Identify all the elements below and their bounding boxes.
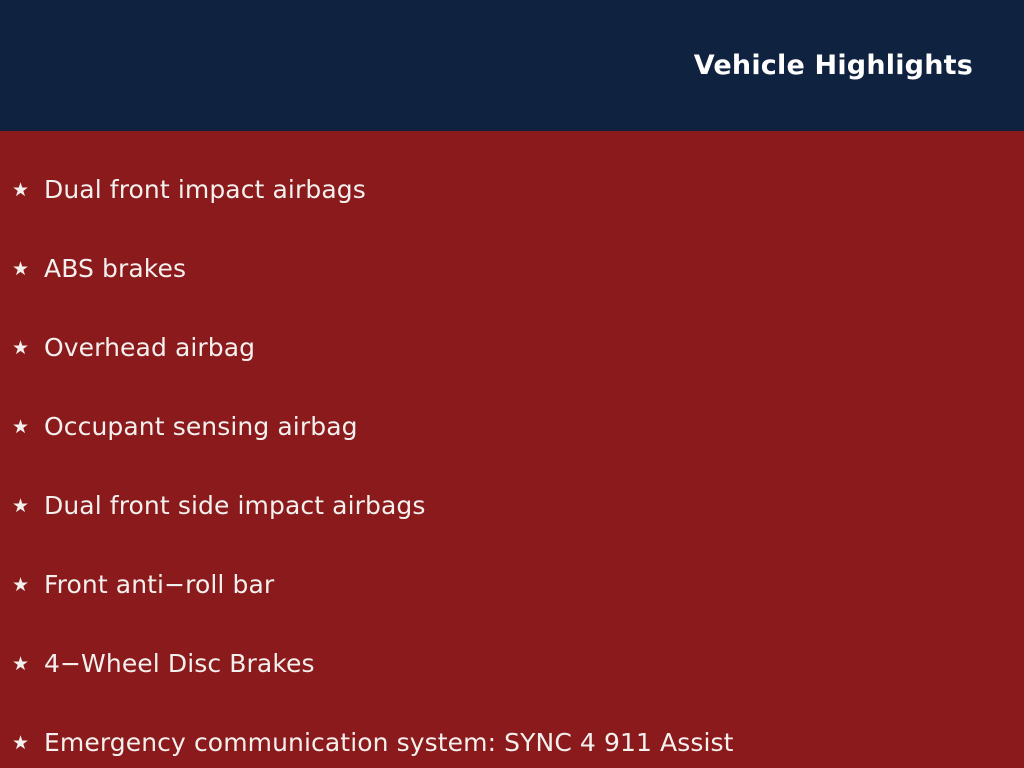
list-item: ★ Dual front side impact airbags xyxy=(0,467,1024,546)
page-title: Vehicle Highlights xyxy=(694,51,973,81)
features-panel: ★ Dual front impact airbags ★ ABS brakes… xyxy=(0,131,1024,768)
star-icon: ★ xyxy=(12,655,34,674)
feature-label: Dual front side impact airbags xyxy=(44,492,426,521)
star-icon: ★ xyxy=(12,734,34,753)
star-icon: ★ xyxy=(12,497,34,516)
list-item: ★ ABS brakes xyxy=(0,230,1024,309)
star-icon: ★ xyxy=(12,339,34,358)
header-band: Vehicle Highlights xyxy=(0,0,1024,131)
feature-label: ABS brakes xyxy=(44,255,186,284)
star-icon: ★ xyxy=(12,181,34,200)
list-item: ★ Emergency communication system: SYNC 4… xyxy=(0,704,1024,768)
list-item: ★ Front anti−roll bar xyxy=(0,546,1024,625)
star-icon: ★ xyxy=(12,260,34,279)
list-item: ★ Occupant sensing airbag xyxy=(0,388,1024,467)
feature-label: Emergency communication system: SYNC 4 9… xyxy=(44,729,734,758)
feature-label: Overhead airbag xyxy=(44,334,255,363)
feature-label: Front anti−roll bar xyxy=(44,571,274,600)
star-icon: ★ xyxy=(12,418,34,437)
feature-label: Dual front impact airbags xyxy=(44,176,366,205)
list-item: ★ Dual front impact airbags xyxy=(0,151,1024,230)
vehicle-highlights-list: ★ Dual front impact airbags ★ ABS brakes… xyxy=(0,151,1024,768)
list-item: ★ Overhead airbag xyxy=(0,309,1024,388)
vehicle-highlights-slide: Vehicle Highlights ★ Dual front impact a… xyxy=(0,0,1024,768)
list-item: ★ 4−Wheel Disc Brakes xyxy=(0,625,1024,704)
star-icon: ★ xyxy=(12,576,34,595)
feature-label: 4−Wheel Disc Brakes xyxy=(44,650,315,679)
feature-label: Occupant sensing airbag xyxy=(44,413,358,442)
